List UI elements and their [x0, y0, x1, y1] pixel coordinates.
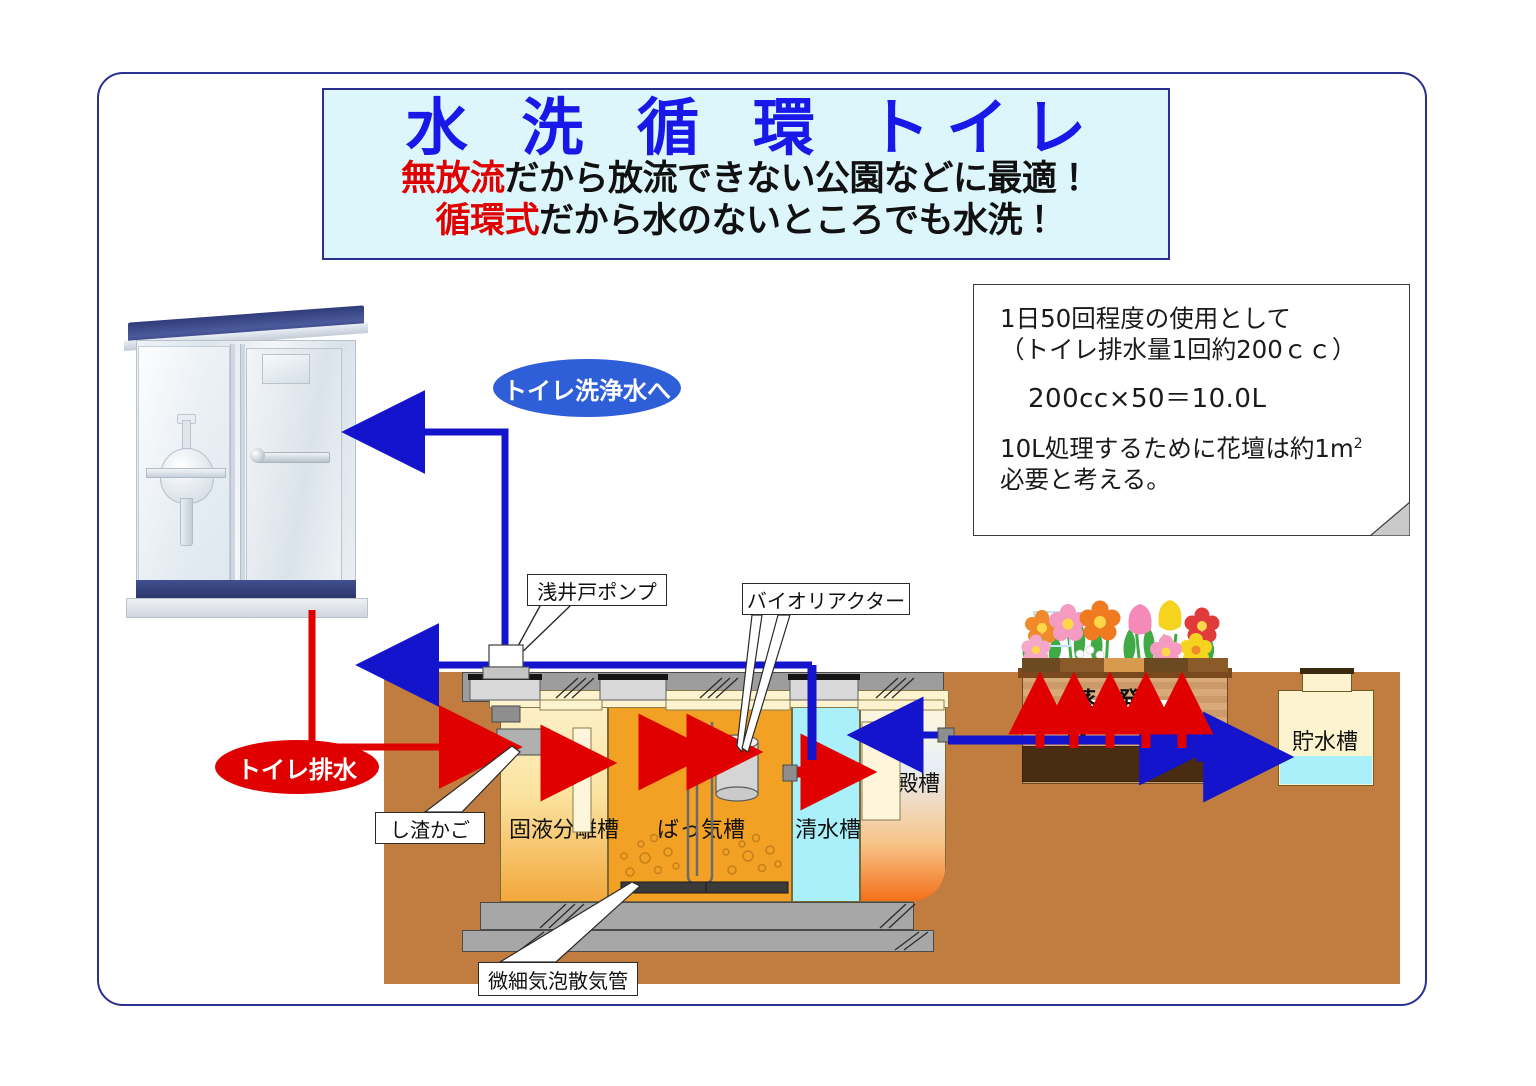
callout-toilet-drain: トイレ排水: [215, 740, 379, 794]
subtitle-2-highlight: 循環式: [435, 201, 539, 241]
title-banner: 水 洗 循 環 トイレ 無放流だから放流できない公園などに最適！ 循環式だから水…: [322, 88, 1170, 260]
toilet-floor: [136, 580, 356, 600]
page-title: 水 洗 循 環 トイレ: [390, 96, 1102, 159]
subtitle-1-highlight: 無放流: [401, 159, 505, 199]
portable-toilet-unit: [124, 300, 368, 622]
chamber-label-0: 固液分離槽: [509, 812, 619, 844]
label-shallow-well-pump: 浅井戸ポンプ: [527, 574, 667, 606]
storage-tank-water: [1280, 756, 1372, 784]
concrete-slab-lower: [462, 930, 934, 952]
label-screenings-basket: し渣かご: [375, 812, 485, 844]
note-line-4-text: 10L処理するために花壇は約1m: [1000, 434, 1354, 463]
note-line-4: 10L処理するために花壇は約1m2: [1000, 433, 1393, 464]
subtitle-1-rest: だから放流できない公園などに最適！: [505, 159, 1092, 199]
label-bioreactor: バイオリアクター: [742, 583, 910, 615]
chamber-sedimentation: [860, 706, 946, 902]
callout-to-flush-water: トイレ洗浄水へ: [493, 359, 681, 417]
flower-bed-lip: [1018, 668, 1232, 678]
toilet-door-handle: [256, 452, 330, 463]
subtitle-line-1: 無放流だから放流できない公園などに最適！: [401, 159, 1091, 200]
page-curl-icon: [1366, 502, 1410, 536]
tank-headspace: [489, 690, 949, 708]
subtitle-line-2: 循環式だから水のないところでも水洗！: [435, 201, 1056, 242]
chamber-clear-water: [792, 706, 860, 902]
calculation-note: 1日50回程度の使用として （トイレ排水量1回約200ｃｃ） 200cc×50＝…: [973, 284, 1410, 536]
chamber-label-1: ばっ気槽: [657, 812, 745, 844]
storage-tank-label: 貯水槽: [1292, 724, 1358, 756]
note-line-4-superscript: 2: [1354, 436, 1363, 452]
toilet-door-knob: [250, 448, 265, 463]
storage-tank-neck: [1302, 672, 1352, 692]
toilet-window: [262, 354, 310, 384]
label-fine-bubble-diffuser: 微細気泡散気管: [478, 962, 638, 996]
toilet-interior-rail: [146, 468, 226, 478]
concrete-slab-upper: [480, 902, 914, 930]
toilet-base: [126, 598, 368, 618]
chamber-label-3: 沈殿槽: [874, 766, 940, 798]
subtitle-2-rest: だから水のないところでも水洗！: [539, 201, 1057, 241]
toilet-urinal-stem: [180, 498, 193, 546]
note-line-1: 1日50回程度の使用として: [1000, 303, 1393, 334]
chamber-aeration: [608, 706, 792, 902]
chamber-solid-liquid-separation: [500, 706, 608, 902]
flower-bed-soil-layer: [1022, 746, 1228, 782]
note-line-2: （トイレ排水量1回約200ｃｃ）: [1000, 334, 1393, 365]
evapotranspiration-label: 蒸 発 散: [1066, 700, 1184, 730]
note-line-5: 必要と考える。: [1000, 464, 1393, 495]
storage-tank-lid: [1300, 668, 1354, 674]
diagram-canvas: 水 洗 循 環 トイレ 無放流だから放流できない公園などに最適！ 循環式だから水…: [0, 0, 1536, 1086]
toilet-mullion-2: [240, 344, 245, 588]
note-equation: 200cc×50＝10.0L: [1000, 383, 1393, 416]
chamber-label-2: 清水槽: [795, 812, 861, 844]
toilet-mullion-1: [230, 344, 235, 588]
